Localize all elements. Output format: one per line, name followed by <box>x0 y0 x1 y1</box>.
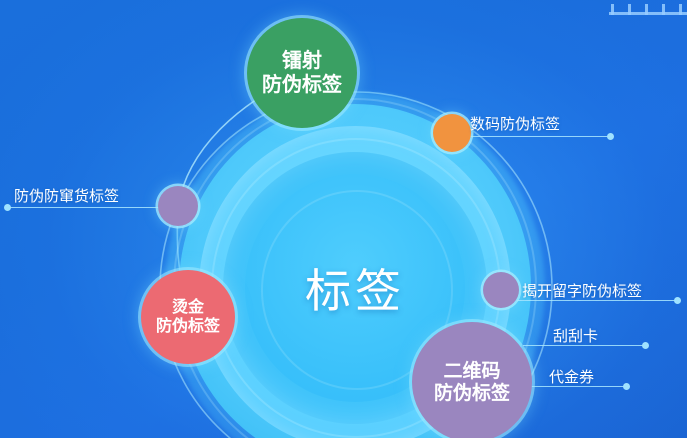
node-laser-line1: 镭射 <box>282 49 322 73</box>
comb-tick <box>611 4 614 15</box>
ruler-comb-decoration-icon <box>609 4 687 22</box>
comb-tick <box>628 4 631 15</box>
label-reveal: 揭开留字防伪标签 <box>522 280 642 301</box>
comb-tick <box>679 4 682 15</box>
marker-channel[interactable] <box>158 186 198 226</box>
comb-bar <box>609 12 687 15</box>
infographic-canvas: 标签 数码防伪标签 防伪防窜货标签 揭开留字防伪标签 刮刮卡 代金券 镭射 防伪… <box>0 0 687 438</box>
connector-dot-channel <box>4 204 11 211</box>
node-foil-line1: 烫金 <box>172 298 204 317</box>
node-qrcode-label[interactable]: 二维码 防伪标签 <box>412 322 532 438</box>
connector-dot-scratch <box>642 342 649 349</box>
label-scratch: 刮刮卡 <box>553 325 598 346</box>
marker-reveal[interactable] <box>483 272 519 308</box>
marker-digital[interactable] <box>433 114 471 152</box>
comb-tick <box>662 4 665 15</box>
connector-dot-reveal <box>674 297 681 304</box>
comb-tick <box>645 4 648 15</box>
label-digital: 数码防伪标签 <box>470 113 560 134</box>
connector-dot-digital <box>607 133 614 140</box>
label-voucher: 代金券 <box>549 366 594 387</box>
label-channel: 防伪防窜货标签 <box>14 185 119 206</box>
connector-line-channel <box>8 207 160 208</box>
connector-dot-voucher <box>623 383 630 390</box>
connector-line-digital <box>470 136 610 137</box>
node-foil-stamp-label[interactable]: 烫金 防伪标签 <box>141 270 235 364</box>
node-qr-line2: 防伪标签 <box>434 382 510 404</box>
node-laser-label[interactable]: 镭射 防伪标签 <box>247 18 357 128</box>
node-laser-line2: 防伪标签 <box>262 73 342 97</box>
node-foil-line2: 防伪标签 <box>156 317 220 336</box>
node-qr-line1: 二维码 <box>443 360 500 382</box>
